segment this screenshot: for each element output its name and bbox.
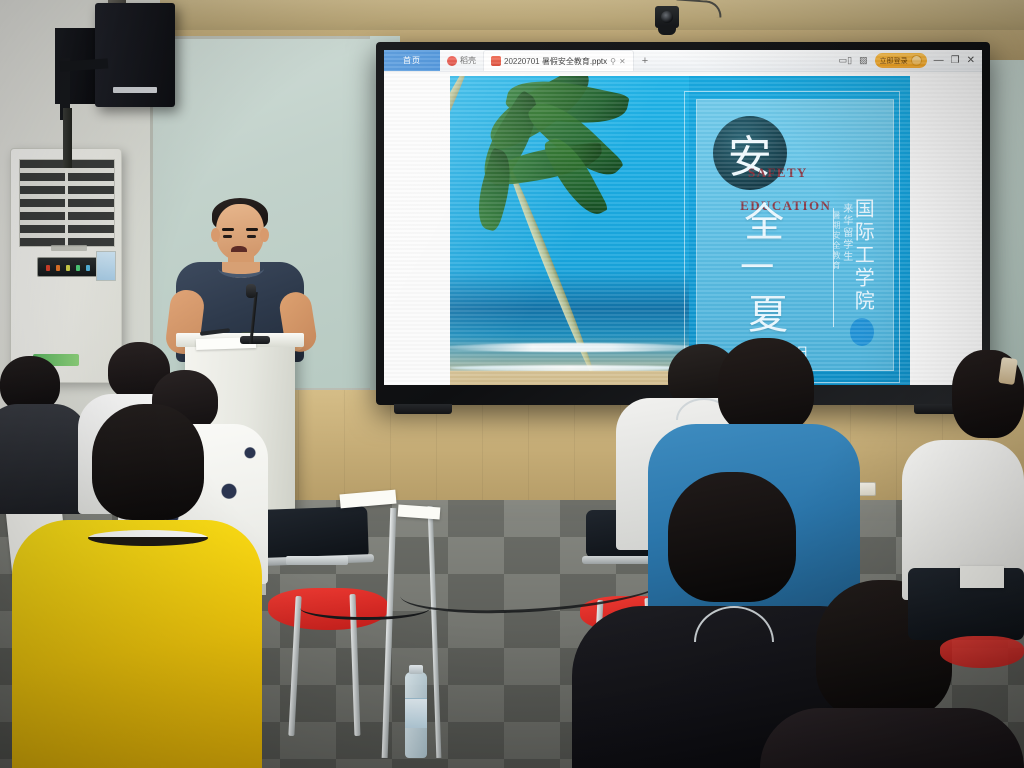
titlebar-right-group: ▭▯ ▨ 立即登录 — ❐ ✕ <box>839 50 982 71</box>
smart-board-screen[interactable]: 首页 稻壳 20220701 暑假安全教育.pptx ⚲ ✕ + ▭▯ <box>384 50 982 385</box>
grid-view-icon[interactable]: ▨ <box>859 55 868 66</box>
presenter-brow-right <box>246 228 258 231</box>
ac-vent-divider <box>65 159 68 247</box>
presenter-eye-left <box>223 235 232 238</box>
slide-char-xia: 夏 <box>748 295 788 335</box>
board-foot-left <box>394 404 452 414</box>
floor-cable-secondary <box>300 596 430 620</box>
wps-docer-tab[interactable]: 稻壳 <box>440 50 483 71</box>
lecture-room-scene: 首页 稻壳 20220701 暑假安全教育.pptx ⚲ ✕ + ▭▯ <box>0 0 1024 768</box>
bottle-cap <box>409 665 423 674</box>
login-button[interactable]: 立即登录 <box>875 53 927 68</box>
wps-document-tab[interactable]: 20220701 暑假安全教育.pptx ⚲ ✕ <box>483 50 634 71</box>
water-bottle <box>405 672 427 758</box>
slide-english-line1: SAFETY <box>748 165 808 181</box>
presenter-eye-right <box>247 235 256 238</box>
presentation-slide[interactable]: 安 SAFETY EDUCATION 全 一 夏 国际工学院 来华留学生 暑期安… <box>450 76 910 385</box>
speaker-port-icon <box>113 87 157 93</box>
wall-socket <box>858 482 876 496</box>
presenter-ear-right <box>260 228 269 242</box>
slide-subtitle-2: 暑期安全教育 <box>831 211 842 271</box>
wps-document-label: 20220701 暑假安全教育.pptx <box>504 56 607 67</box>
ac-brand-logo <box>51 245 87 251</box>
restore-button[interactable]: ❐ <box>951 55 960 66</box>
beach-sand <box>450 371 689 385</box>
pin-icon[interactable]: ⚲ <box>610 57 616 66</box>
docer-icon <box>447 56 457 66</box>
presenter-collar-trim <box>218 259 264 278</box>
new-tab-label: + <box>642 55 648 67</box>
pptx-file-icon <box>491 56 501 66</box>
wall-speaker <box>95 3 175 107</box>
slide-blue-dot <box>850 318 874 346</box>
wps-title-bar: 首页 稻壳 20220701 暑假安全教育.pptx ⚲ ✕ + ▭▯ <box>384 50 982 72</box>
air-conditioner <box>10 148 122 383</box>
ppt-work-area: 安 SAFETY EDUCATION 全 一 夏 国际工学院 来华留学生 暑期安… <box>384 72 982 385</box>
microphone-base <box>240 336 270 344</box>
surf-line <box>450 343 689 352</box>
yellow-shirt-collar <box>88 530 208 546</box>
slide-content-card: 安 SAFETY EDUCATION 全 一 夏 国际工学院 来华留学生 暑期安… <box>696 99 894 371</box>
ac-energy-label <box>96 251 116 281</box>
ppt-canvas-wrapper: 安 SAFETY EDUCATION 全 一 夏 国际工学院 来华留学生 暑期安… <box>384 72 982 385</box>
slide-char-yi: 一 <box>740 252 774 286</box>
wps-home-label: 首页 <box>403 55 421 66</box>
wall-pipe <box>63 108 72 168</box>
presenter-brow-left <box>222 228 234 231</box>
palm-trunk-icon <box>450 76 473 325</box>
wps-home-tab[interactable]: 首页 <box>384 50 440 71</box>
camera-mount <box>658 26 676 35</box>
presenter-ear-left <box>211 228 220 242</box>
slide-photo-beach <box>450 76 689 385</box>
camera-lens-icon <box>661 11 673 23</box>
split-view-icon[interactable]: ▭▯ <box>839 55 852 66</box>
slide-char-quan: 全 <box>744 203 784 243</box>
right-wall-board <box>985 60 1024 390</box>
minimize-button[interactable]: — <box>934 55 944 66</box>
close-icon[interactable]: ✕ <box>619 57 626 66</box>
close-window-button[interactable]: ✕ <box>967 55 975 66</box>
login-label: 立即登录 <box>880 56 908 66</box>
avatar <box>911 55 922 66</box>
chair-tag <box>960 566 1004 588</box>
ac-display-panel <box>37 257 101 277</box>
wps-docer-label: 稻壳 <box>460 55 476 66</box>
new-tab-button[interactable]: + <box>634 50 656 71</box>
bottle-label <box>405 698 427 728</box>
microphone-head <box>246 284 256 298</box>
ceiling-camera <box>655 6 679 28</box>
